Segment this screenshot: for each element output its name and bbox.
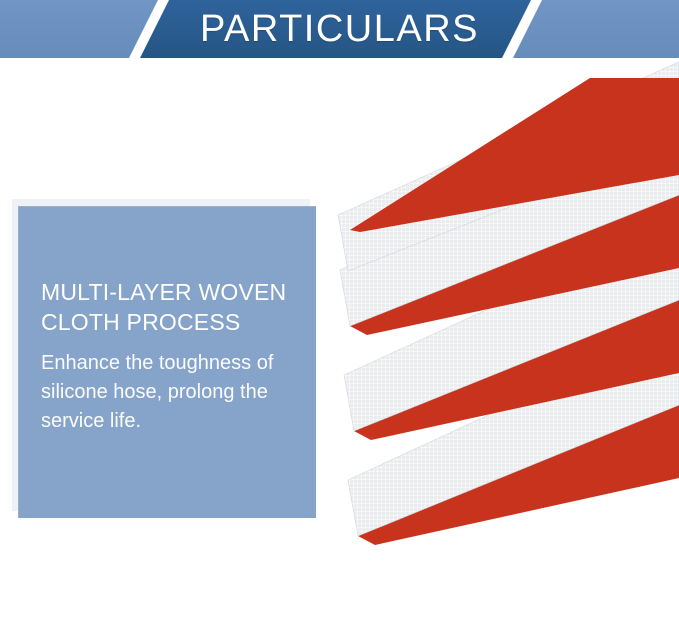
sheet-stack-illustration bbox=[330, 60, 679, 560]
banner-right-band bbox=[513, 0, 679, 58]
info-card: MULTI-LAYER WOVEN CLOTH PROCESS Enhance … bbox=[18, 206, 316, 518]
header-banner: PARTICULARS bbox=[0, 0, 679, 60]
sheet-stack-svg bbox=[330, 60, 679, 560]
banner-left-band bbox=[0, 0, 158, 58]
banner-center-band bbox=[140, 0, 531, 58]
info-card-body: Enhance the toughness of silicone hose, … bbox=[41, 349, 303, 436]
header-banner-shapes bbox=[0, 0, 679, 60]
info-card-heading: MULTI-LAYER WOVEN CLOTH PROCESS bbox=[41, 277, 303, 337]
